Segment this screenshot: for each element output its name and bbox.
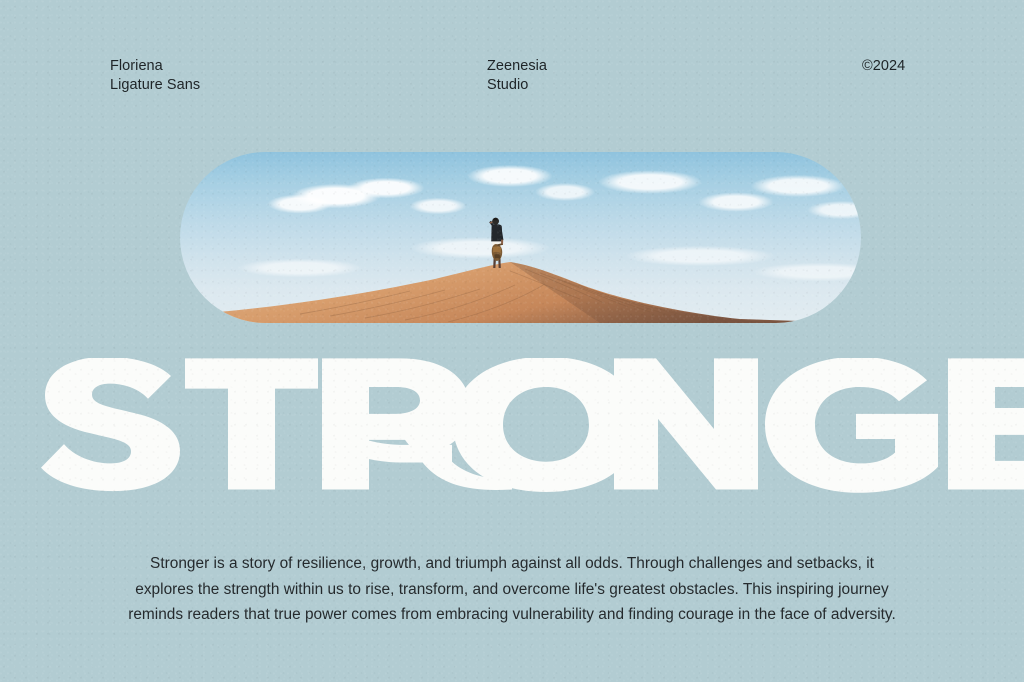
poster-canvas: Floriena Ligature Sans Zeenesia Studio ©… <box>0 0 1024 682</box>
font-name-label: Floriena Ligature Sans <box>110 57 200 94</box>
description-paragraph: Stronger is a story of resilience, growt… <box>128 551 896 627</box>
hero-photo-frame <box>180 152 861 323</box>
stronger-wordmark <box>0 358 1024 500</box>
headline-title <box>0 358 1024 500</box>
copyright-label: ©2024 <box>862 57 905 76</box>
sand-dune-shape <box>180 251 861 323</box>
hiker-figure <box>476 216 510 270</box>
header-row: Floriena Ligature Sans Zeenesia Studio ©… <box>0 57 1024 117</box>
studio-name-label: Zeenesia Studio <box>487 57 547 94</box>
desert-dune-photo <box>180 152 861 323</box>
